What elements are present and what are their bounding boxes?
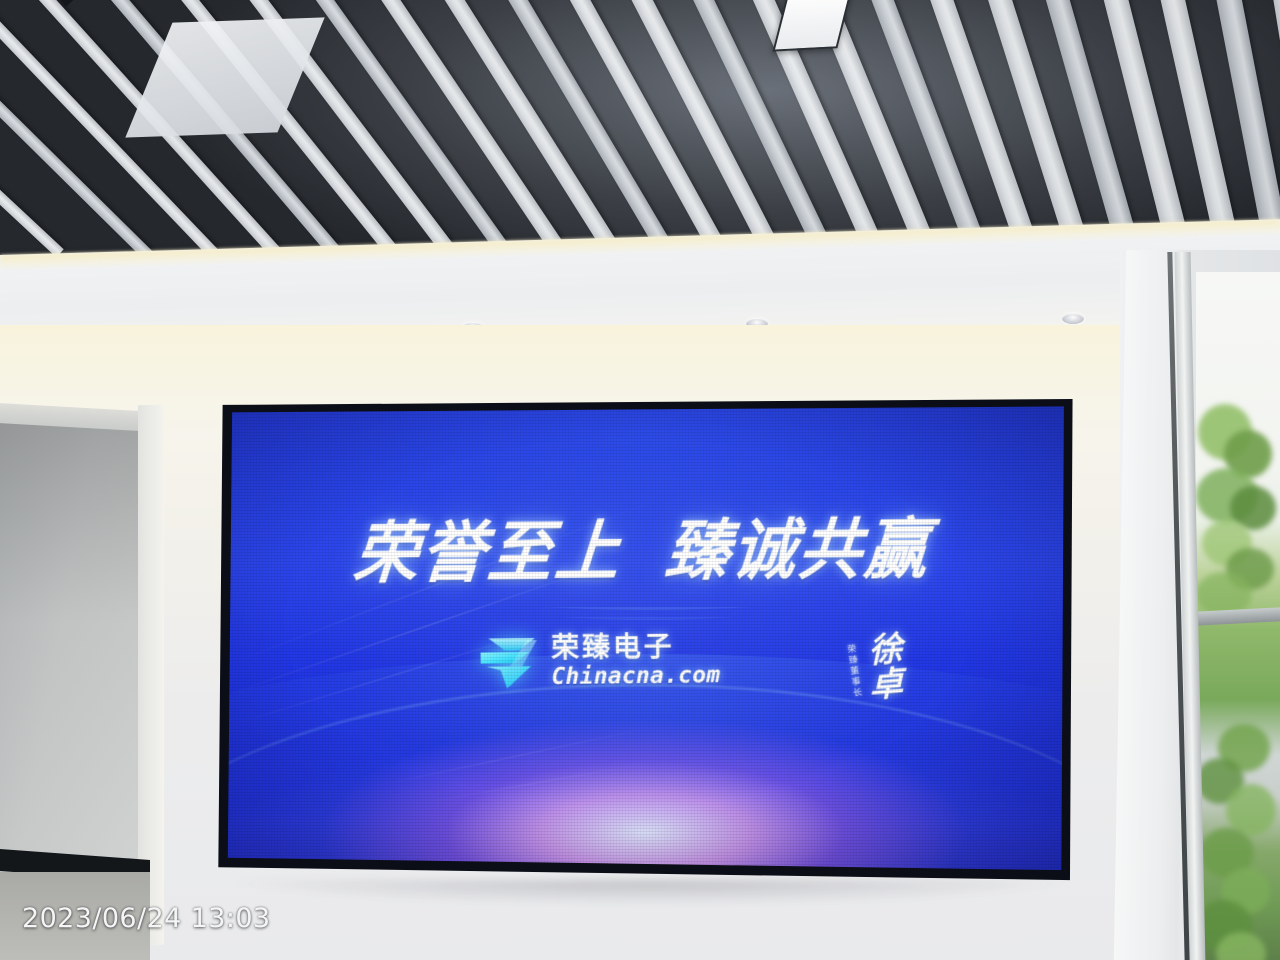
- led-display[interactable]: 荣誉至上臻诚共赢: [214, 396, 1076, 892]
- photo-scene: 荣誉至上臻诚共赢: [0, 0, 1280, 960]
- screen-vignette: [214, 396, 1076, 892]
- photo-timestamp: 2023/06/24 13:03: [22, 903, 271, 934]
- recessed-downlight: [1062, 313, 1084, 324]
- display-screen[interactable]: 荣誉至上臻诚共赢: [214, 396, 1076, 892]
